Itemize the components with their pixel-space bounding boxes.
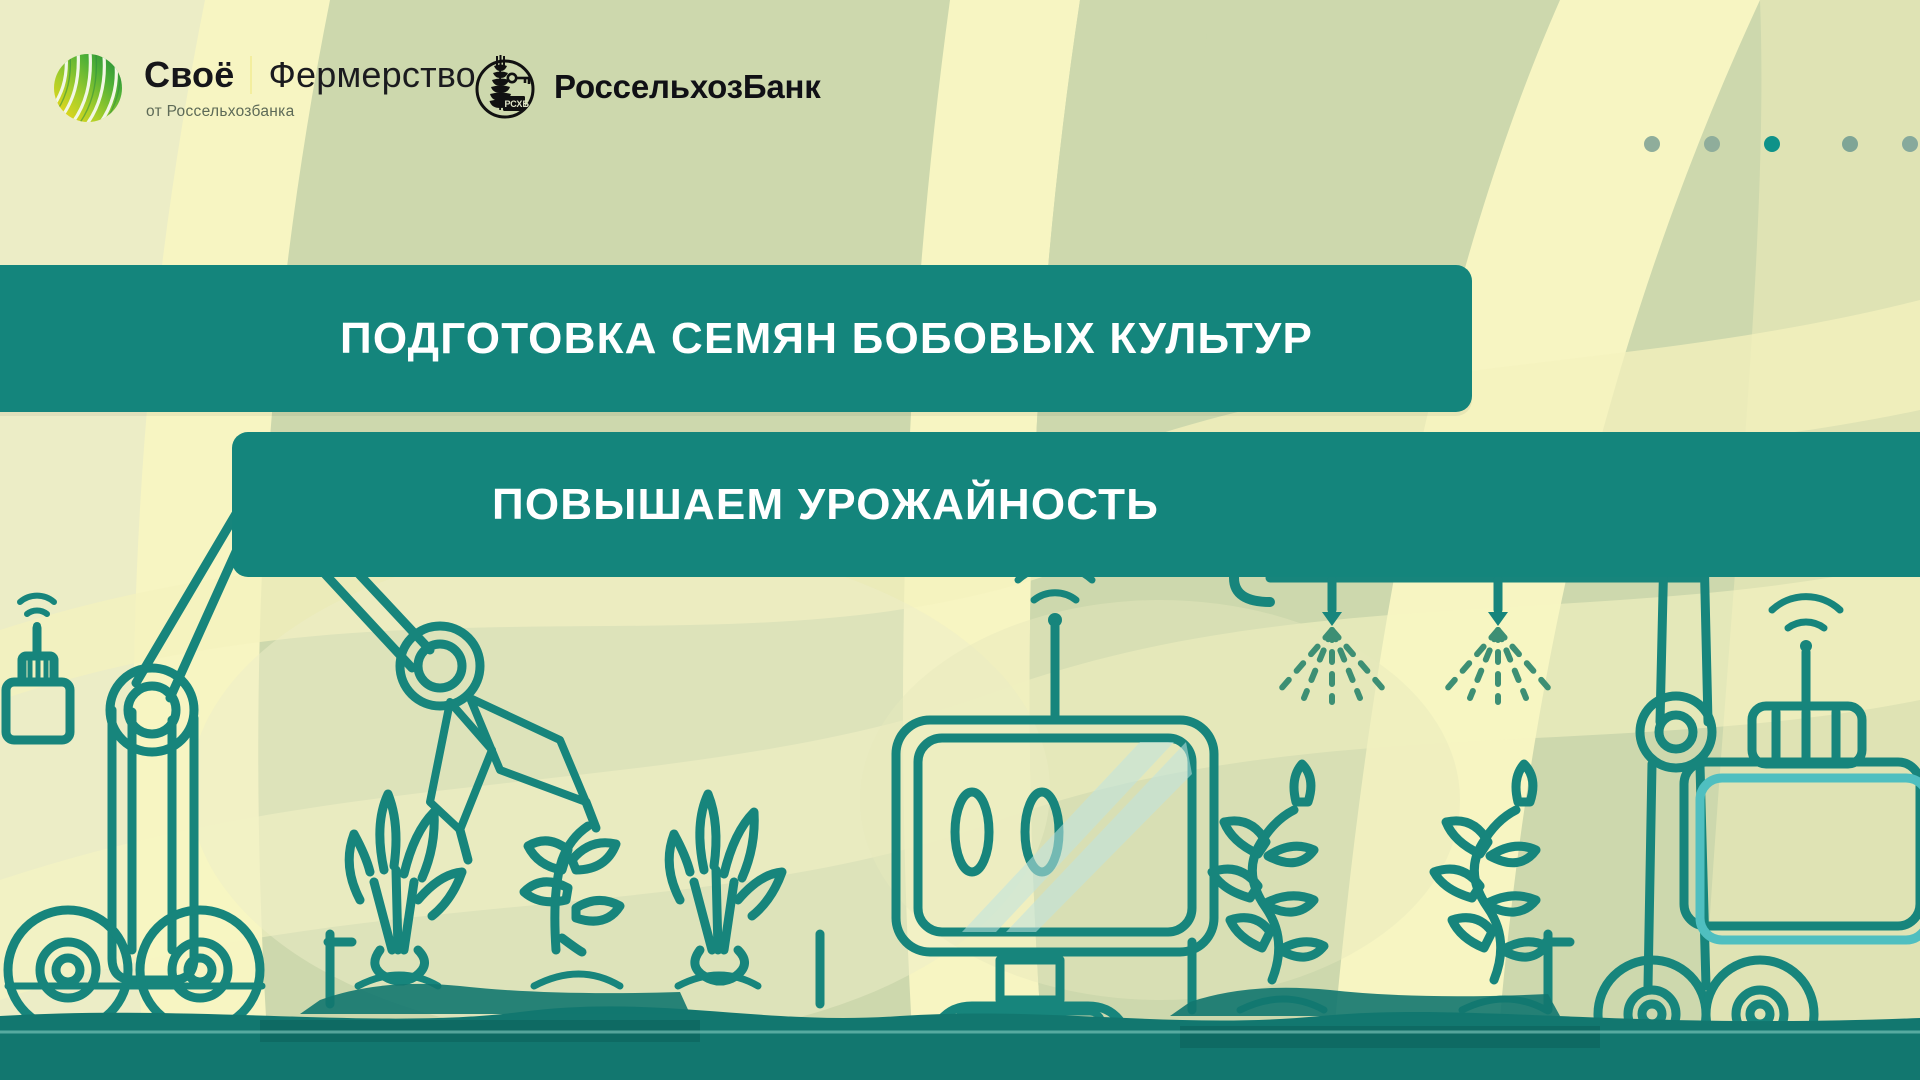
brand-logo-text: Своё Фермерство от Россельхозбанка <box>144 56 476 121</box>
svg-text:РСХБ: РСХБ <box>505 99 530 109</box>
title-banner: ПОДГОТОВКА СЕМЯН БОБОВЫХ КУЛЬТУР <box>0 265 1472 412</box>
robot-monitor-face-icon <box>896 566 1214 1080</box>
bank-logo-group[interactable]: РСХБ РоссельхозБанк <box>470 52 821 122</box>
pager-dot-2[interactable] <box>1704 136 1720 152</box>
svoyo-sphere-logo-icon <box>52 52 124 124</box>
bean-vine-plant-icon <box>1434 764 1546 1010</box>
brand-tagline: от Россельхозбанка <box>146 103 476 121</box>
pager-dot-5[interactable] <box>1902 136 1918 152</box>
page-subtitle: ПОВЫШАЕМ УРОЖАЙНОСТЬ <box>492 480 1159 530</box>
pager-dots[interactable] <box>1644 136 1920 152</box>
brand-logo-group[interactable]: Своё Фермерство от Россельхозбанка <box>52 52 476 124</box>
brand-name-bold: Своё <box>144 57 234 93</box>
screen-glare <box>962 742 1192 932</box>
brand-divider <box>250 56 252 94</box>
bean-vine-plant-icon <box>1212 764 1324 1010</box>
pager-dot-1[interactable] <box>1644 136 1660 152</box>
rshb-wheat-key-logo-icon: РСХБ <box>470 52 540 122</box>
slide-canvas: Своё Фермерство от Россельхозбанка <box>0 0 1920 1080</box>
wifi-antenna-box-icon <box>6 596 70 740</box>
leafy-plant-icon <box>349 794 462 986</box>
bank-name: РоссельхозБанк <box>554 68 821 106</box>
leafy-plant-icon <box>669 794 782 986</box>
header: Своё Фермерство от Россельхозбанка <box>0 0 1920 190</box>
page-title: ПОДГОТОВКА СЕМЯН БОБОВЫХ КУЛЬТУР <box>340 314 1313 364</box>
pager-dot-4[interactable] <box>1842 136 1858 152</box>
pager-dot-3[interactable] <box>1764 136 1780 152</box>
subtitle-banner: ПОВЫШАЕМ УРОЖАЙНОСТЬ <box>232 432 1920 577</box>
seedling-sprout-icon <box>524 826 620 986</box>
brand-name-light: Фермерство <box>268 57 475 93</box>
water-spray-dashes <box>1280 630 1550 702</box>
